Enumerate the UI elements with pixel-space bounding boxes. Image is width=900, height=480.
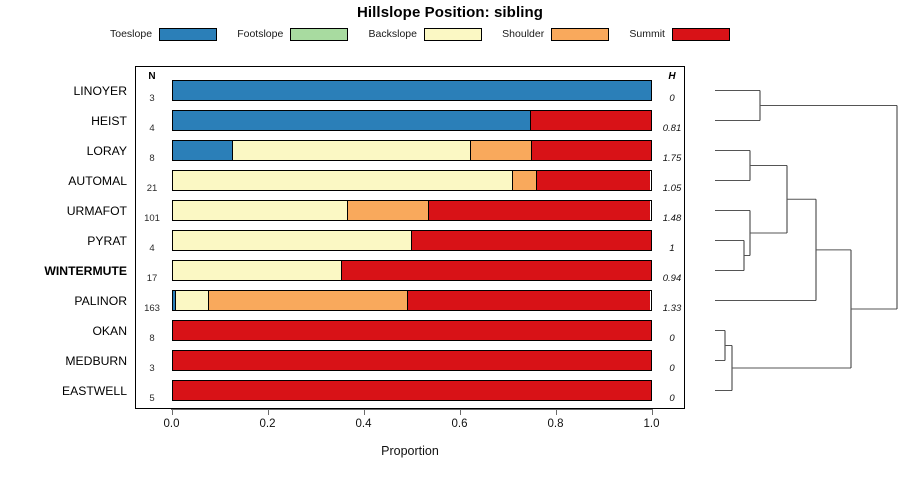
x-tick	[364, 409, 365, 415]
h-value: 0	[652, 363, 692, 374]
h-column: H 00.811.751.051.4810.941.33000	[652, 66, 698, 409]
row-label: EASTWELL	[62, 385, 127, 397]
row-label: HEIST	[91, 115, 127, 127]
h-value: 0	[652, 393, 692, 404]
x-tick	[172, 409, 173, 415]
x-tick-label: 0.2	[248, 418, 288, 430]
n-value: 8	[135, 333, 169, 344]
n-value: 8	[135, 153, 169, 164]
legend-item-summit[interactable]: Summit	[629, 28, 730, 41]
n-value: 4	[135, 243, 169, 254]
row-label: WINTERMUTE	[44, 265, 127, 277]
dendrogram-svg	[694, 66, 900, 409]
legend-swatch	[290, 28, 348, 41]
legend: ToeslopeFootslopeBackslopeShoulderSummit	[110, 25, 730, 43]
legend-swatch	[551, 28, 609, 41]
x-tick-label: 0.6	[440, 418, 480, 430]
h-value: 1.05	[652, 183, 692, 194]
row-label: MEDBURN	[65, 355, 127, 367]
h-value: 1.75	[652, 153, 692, 164]
legend-label: Backslope	[369, 28, 417, 40]
legend-item-footslope[interactable]: Footslope	[237, 28, 348, 41]
n-value: 163	[135, 303, 169, 314]
row-label: LORAY	[87, 145, 127, 157]
dendrogram	[694, 66, 900, 409]
page-title: Hillslope Position: sibling	[0, 4, 900, 21]
h-value: 0.94	[652, 273, 692, 284]
n-value: 4	[135, 123, 169, 134]
legend-item-shoulder[interactable]: Shoulder	[502, 28, 609, 41]
n-column-header: N	[135, 71, 169, 82]
x-tick-label: 1.0	[632, 418, 672, 430]
legend-label: Toeslope	[110, 28, 152, 40]
n-value: 3	[135, 363, 169, 374]
x-axis: 0.00.20.40.60.81.0	[135, 409, 685, 449]
x-tick-label: 0.0	[152, 418, 192, 430]
legend-item-toeslope[interactable]: Toeslope	[110, 28, 217, 41]
legend-swatch	[159, 28, 217, 41]
n-value: 5	[135, 393, 169, 404]
n-column: N 34821101417163835	[135, 66, 169, 409]
x-tick	[556, 409, 557, 415]
h-value: 1.33	[652, 303, 692, 314]
legend-swatch	[424, 28, 482, 41]
h-value: 1.48	[652, 213, 692, 224]
h-value: 0	[652, 93, 692, 104]
h-column-header: H	[652, 71, 692, 82]
row-label: OKAN	[92, 325, 127, 337]
h-value: 0	[652, 333, 692, 344]
legend-swatch	[672, 28, 730, 41]
x-axis-line	[171, 409, 652, 410]
n-value: 3	[135, 93, 169, 104]
n-value: 101	[135, 213, 169, 224]
chart-root: Hillslope Position: sibling ToeslopeFoot…	[0, 0, 900, 480]
h-value: 1	[652, 243, 692, 254]
x-tick	[460, 409, 461, 415]
legend-label: Footslope	[237, 28, 283, 40]
legend-label: Shoulder	[502, 28, 544, 40]
row-label: PYRAT	[87, 235, 127, 247]
x-tick	[268, 409, 269, 415]
row-label: PALINOR	[74, 295, 127, 307]
x-axis-label: Proportion	[135, 444, 685, 458]
n-value: 21	[135, 183, 169, 194]
x-tick-label: 0.4	[344, 418, 384, 430]
row-label: LINOYER	[73, 85, 127, 97]
row-label: URMAFOT	[67, 205, 127, 217]
legend-item-backslope[interactable]: Backslope	[369, 28, 482, 41]
n-value: 17	[135, 273, 169, 284]
x-tick-label: 0.8	[536, 418, 576, 430]
plot-panel	[135, 66, 685, 409]
row-label-column: LINOYERHEISTLORAYAUTOMALURMAFOTPYRATWINT…	[0, 66, 131, 409]
x-tick	[652, 409, 653, 415]
h-value: 0.81	[652, 123, 692, 134]
legend-label: Summit	[629, 28, 665, 40]
row-label: AUTOMAL	[68, 175, 127, 187]
